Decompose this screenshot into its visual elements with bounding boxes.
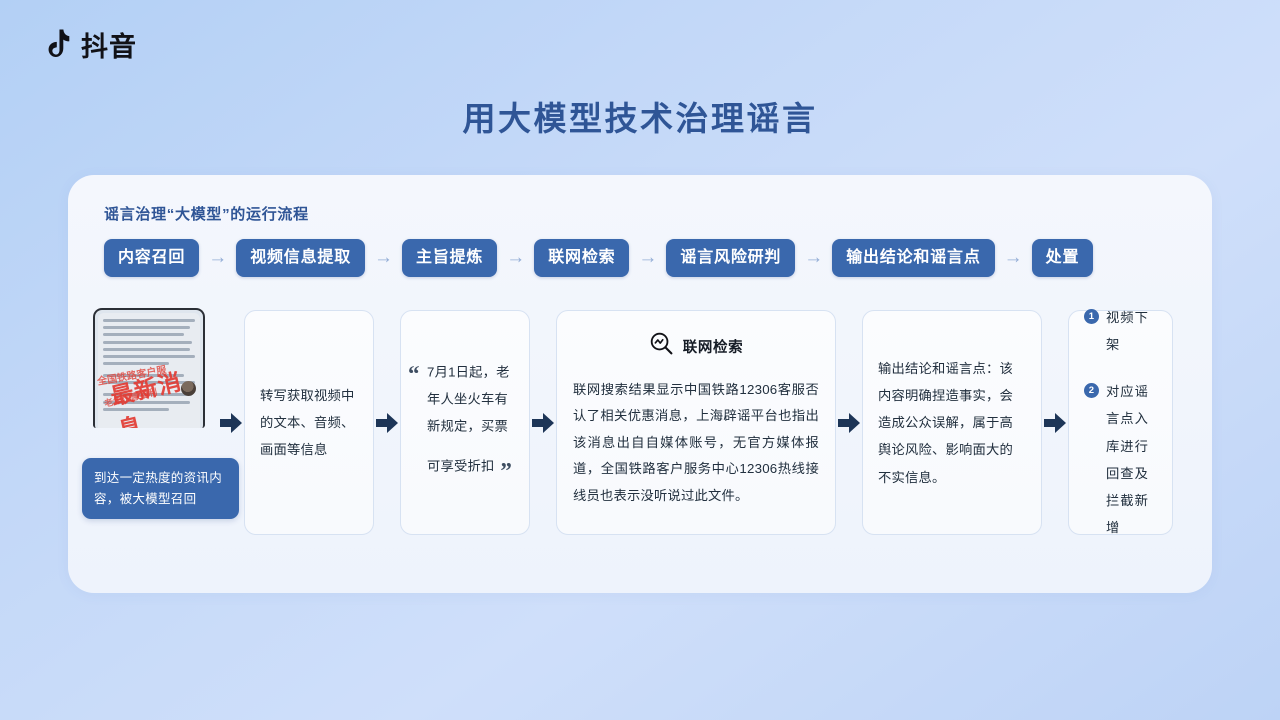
- text-line: [103, 319, 195, 322]
- page-title: 用大模型技术治理谣言: [0, 92, 1280, 140]
- stage-card-extract-text: 转写获取视频中的文本、音频、画面等信息: [245, 382, 373, 464]
- search-trend-icon: [649, 331, 674, 366]
- web-search-label: 联网检索: [683, 334, 743, 363]
- phone-callout-label: 到达一定热度的资讯内容，被大模型召回: [82, 458, 239, 519]
- tiktok-note-icon: [38, 28, 72, 66]
- stage-card-web-search-body: 联网检索 联网搜索结果显示中国铁路12306客服否认了相关优惠消息，上海辟谣平台…: [557, 331, 835, 510]
- arrow-right-solid-icon: [1042, 410, 1068, 436]
- flow-chip-risk-assess[interactable]: 谣言风险研判: [666, 239, 795, 277]
- quote-close-icon: ”: [500, 448, 512, 495]
- text-line: [103, 348, 190, 351]
- chevron-right-icon: →: [795, 248, 832, 267]
- text-line: [103, 362, 169, 365]
- text-line: [103, 341, 192, 344]
- list-number-badge: 1: [1084, 309, 1099, 324]
- flow-chip-content-recall[interactable]: 内容召回: [104, 239, 199, 277]
- stage-card-web-search: 联网检索 联网搜索结果显示中国铁路12306客服否认了相关优惠消息，上海辟谣平台…: [556, 310, 836, 535]
- stage-phone-screenshot: 全国铁路客户服 老年优惠福利 最新消息 到达一定热度的资讯内容，被大模型召回: [93, 310, 218, 535]
- chevron-right-icon: →: [497, 248, 534, 267]
- disposal-list: 1 视频下架 2 对应谣言点入库进行回查及拦截新增: [1084, 304, 1157, 542]
- quote-open-icon: “: [408, 350, 420, 397]
- chevron-right-icon: →: [199, 248, 236, 267]
- stage-card-disposal-body: 1 视频下架 2 对应谣言点入库进行回查及拦截新增: [1069, 304, 1172, 542]
- process-flow-row: 内容召回 → 视频信息提取 → 主旨提炼 → 联网检索 → 谣言风险研判 → 输…: [104, 239, 1179, 277]
- flow-chip-web-search[interactable]: 联网检索: [534, 239, 629, 277]
- stage-cards-row: 全国铁路客户服 老年优惠福利 最新消息 到达一定热度的资讯内容，被大模型召回 转…: [80, 310, 1212, 535]
- flow-chip-summarize[interactable]: 主旨提炼: [402, 239, 497, 277]
- phone-screen: [98, 313, 200, 428]
- list-item-label: 视频下架: [1106, 304, 1157, 359]
- text-line: [103, 326, 190, 329]
- flow-chip-disposal[interactable]: 处置: [1032, 239, 1094, 277]
- web-search-header: 联网检索: [573, 331, 819, 366]
- phone-mock: 全国铁路客户服 老年优惠福利 最新消息: [93, 308, 205, 428]
- list-item-label: 对应谣言点入库进行回查及拦截新增: [1106, 378, 1157, 542]
- stage-card-conclusion-text: 输出结论和谣言点：该内容明确捏造事实，会造成公众误解，属于高舆论风险、影响面大的…: [863, 354, 1041, 490]
- text-line: [103, 401, 190, 404]
- text-line: [103, 355, 195, 358]
- text-line: [103, 408, 169, 411]
- stage-card-summary-text: 7月1日起，老年人坐火车有新规定，买票可享受折扣: [427, 364, 510, 474]
- list-item: 2 对应谣言点入库进行回查及拦截新增: [1084, 378, 1157, 542]
- stage-card-conclusion: 输出结论和谣言点：该内容明确捏造事实，会造成公众误解，属于高舆论风险、影响面大的…: [862, 310, 1042, 535]
- list-item: 1 视频下架: [1084, 304, 1157, 359]
- arrow-right-solid-icon: [836, 410, 862, 436]
- list-number-badge: 2: [1084, 383, 1099, 398]
- stage-card-web-search-text: 联网搜索结果显示中国铁路12306客服否认了相关优惠消息，上海辟谣平台也指出该消…: [573, 377, 819, 510]
- flow-chip-video-extract[interactable]: 视频信息提取: [236, 239, 365, 277]
- brand-logo-group: 抖音: [38, 28, 137, 66]
- text-line: [103, 393, 192, 396]
- stage-card-summary-quote: “ 7月1日起，老年人坐火车有新规定，买票可享受折扣 ”: [401, 358, 529, 487]
- avatar: [181, 381, 196, 396]
- flow-panel: 谣言治理“大模型”的运行流程 内容召回 → 视频信息提取 → 主旨提炼 → 联网…: [68, 175, 1212, 593]
- text-line: [103, 333, 184, 336]
- arrow-right-solid-icon: [530, 410, 556, 436]
- stage-card-extract: 转写获取视频中的文本、音频、画面等信息: [244, 310, 374, 535]
- chevron-right-icon: →: [995, 248, 1032, 267]
- arrow-right-solid-icon: [218, 410, 244, 436]
- text-line: [103, 374, 184, 377]
- flow-chip-output-conclusion[interactable]: 输出结论和谣言点: [832, 239, 994, 277]
- chevron-right-icon: →: [365, 248, 402, 267]
- brand-name: 抖音: [81, 34, 137, 61]
- arrow-right-solid-icon: [374, 410, 400, 436]
- stage-card-summary: “ 7月1日起，老年人坐火车有新规定，买票可享受折扣 ”: [400, 310, 530, 535]
- stage-card-disposal: 1 视频下架 2 对应谣言点入库进行回查及拦截新增: [1068, 310, 1173, 535]
- panel-subtitle: 谣言治理“大模型”的运行流程: [104, 203, 309, 224]
- chevron-right-icon: →: [629, 248, 666, 267]
